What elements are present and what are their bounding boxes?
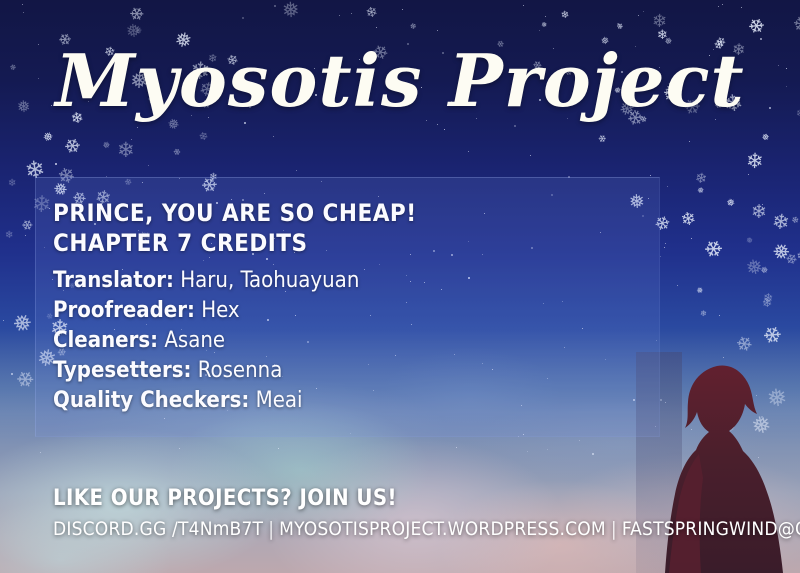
star — [523, 5, 524, 6]
credits-banner: ❄❄❄❄❅❄❄❄❄❄❄❄❄❄❅❄❄❄❄❅❄❄❅❄❄❄❅❅❄❅❄❄❄❅❄❄❄❄❄❄… — [0, 0, 800, 573]
credit-role-list: Translator: Haru, TaohuayuanProofreader:… — [53, 266, 653, 416]
star — [402, 9, 403, 10]
star — [718, 6, 719, 7]
footer-separator-1: | — [263, 518, 279, 540]
footer-separator-2: | — [606, 518, 622, 540]
footer: LIKE OUR PROJECTS? JOIN US! DISCORD.GG /… — [53, 486, 773, 540]
credit-role-names: Haru, Taohuayuan — [180, 268, 359, 293]
snowflake-icon: ❄ — [409, 22, 417, 31]
footer-links: DISCORD.GG /T4NmB7T|MYOSOTISPROJECT.WORD… — [53, 518, 773, 540]
credit-row: Cleaners: Asane — [53, 326, 653, 356]
star — [274, 5, 276, 7]
star — [530, 155, 531, 156]
star — [148, 165, 149, 166]
star — [296, 170, 297, 171]
credit-row: Proofreader: Hex — [53, 296, 653, 326]
email-link[interactable]: FASTSPRINGWIND@GMAIL.COM — [622, 518, 800, 540]
snowflake-icon: ❄ — [771, 211, 791, 234]
star — [527, 451, 528, 452]
snowflake-icon: ❄ — [746, 151, 764, 173]
website-link[interactable]: MYOSOTISPROJECT.WORDPRESS.COM — [279, 518, 606, 540]
star — [545, 16, 546, 17]
snowflake-icon: ❄ — [5, 231, 14, 241]
join-us-cta: LIKE OUR PROJECTS? JOIN US! — [53, 486, 773, 511]
star — [719, 315, 720, 316]
star — [25, 235, 26, 236]
series-title: PRINCE, YOU ARE SO CHEAP! — [53, 198, 653, 228]
star — [468, 151, 469, 152]
star — [592, 453, 594, 455]
credit-role-label: Translator: — [53, 268, 174, 293]
page-title: Myosotis Project — [0, 38, 800, 123]
star — [339, 15, 340, 16]
star — [547, 449, 548, 450]
star — [179, 448, 180, 449]
credit-row: Translator: Haru, Taohuayuan — [53, 266, 653, 296]
star — [40, 452, 41, 453]
star — [650, 175, 651, 176]
credit-role-names: Rosenna — [198, 358, 283, 383]
character-silhouette — [655, 358, 800, 573]
star — [444, 129, 445, 130]
discord-link[interactable]: DISCORD.GG /T4NmB7T — [53, 518, 263, 540]
star — [23, 12, 24, 13]
credit-role-label: Quality Checkers: — [53, 388, 249, 413]
star — [722, 4, 723, 5]
star — [667, 186, 668, 187]
credit-row: Typesetters: Rosenna — [53, 356, 653, 386]
snowflake-icon: ❄ — [560, 11, 570, 22]
star — [665, 243, 666, 244]
star — [376, 27, 377, 28]
credit-role-label: Typesetters: — [53, 358, 191, 383]
star — [351, 13, 352, 14]
star — [514, 125, 516, 127]
star — [3, 320, 4, 321]
snowflake-icon: ❄ — [117, 140, 135, 161]
star — [273, 136, 274, 137]
credit-role-names: Asane — [164, 328, 225, 353]
star — [741, 7, 742, 8]
star — [748, 174, 749, 175]
snowflake-icon: ❅ — [745, 237, 753, 246]
star — [638, 15, 639, 16]
credit-row: Quality Checkers: Meai — [53, 386, 653, 416]
star — [664, 247, 665, 248]
star — [643, 11, 644, 12]
chapter-title: CHAPTER 7 CREDITS — [53, 228, 653, 258]
star — [579, 440, 580, 441]
star — [660, 256, 661, 257]
star — [456, 447, 457, 448]
star — [677, 285, 678, 286]
credit-role-label: Proofreader: — [53, 298, 195, 323]
star — [539, 30, 540, 31]
star — [437, 124, 438, 125]
snowflake-icon: ❄ — [8, 179, 17, 189]
snowflake-icon: ❄ — [762, 291, 774, 304]
credit-role-names: Meai — [256, 388, 303, 413]
snowflake-icon: ❅ — [281, 0, 300, 21]
snowflake-icon: ❄ — [751, 203, 767, 222]
snowflake-icon: ❄ — [679, 210, 697, 231]
star — [55, 163, 57, 165]
credit-role-names: Hex — [201, 298, 239, 323]
snowflake-icon: ❄ — [700, 310, 708, 319]
star — [242, 17, 244, 19]
star — [137, 127, 138, 128]
star — [689, 141, 690, 142]
star — [278, 448, 279, 449]
star — [437, 30, 438, 31]
star — [22, 4, 23, 5]
star — [691, 238, 692, 239]
credit-role-label: Cleaners: — [53, 328, 158, 353]
credits-content: PRINCE, YOU ARE SO CHEAP! CHAPTER 7 CRED… — [53, 198, 653, 416]
